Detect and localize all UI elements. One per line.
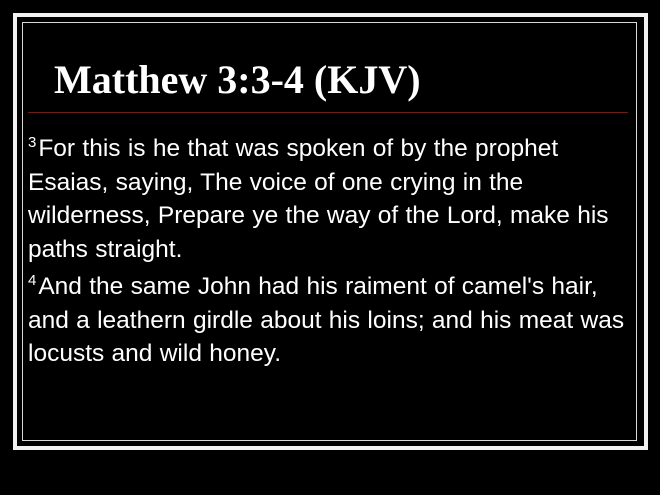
presentation-slide: Matthew 3:3-4 (KJV) 3For this is he that… (0, 0, 660, 495)
title-divider-rule (28, 112, 628, 113)
title-block: Matthew 3:3-4 (KJV) (28, 58, 632, 113)
verse-text: And the same John had his raiment of cam… (28, 273, 624, 367)
scripture-body: 3For this is he that was spoken of by th… (28, 132, 632, 371)
verse-text: For this is he that was spoken of by the… (28, 135, 609, 263)
slide-title: Matthew 3:3-4 (KJV) (28, 58, 632, 102)
verse-number: 3 (28, 134, 36, 151)
verse-paragraph: 4And the same John had his raiment of ca… (28, 270, 632, 371)
slide-content-area: Matthew 3:3-4 (KJV) 3For this is he that… (28, 28, 632, 435)
verse-paragraph: 3For this is he that was spoken of by th… (28, 132, 632, 266)
verse-number: 4 (28, 272, 36, 289)
